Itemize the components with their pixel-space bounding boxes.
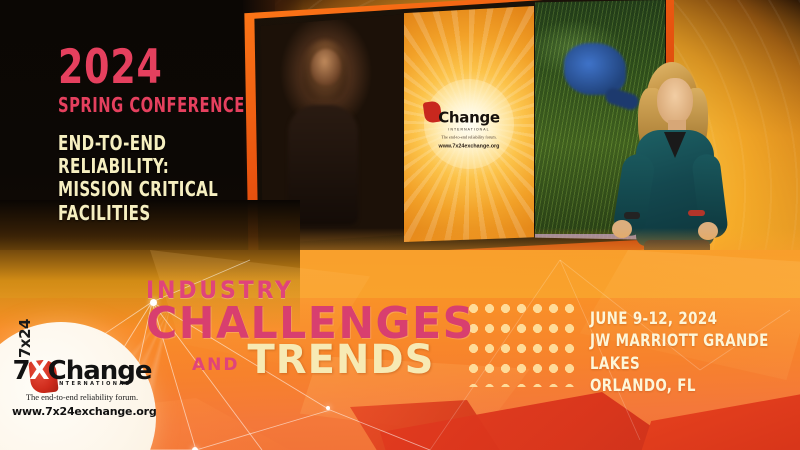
event-details-block: JUNE 9-12, 2024 JW MARRIOTT GRANDE LAKES…: [590, 308, 800, 398]
speaker-watch: [624, 212, 640, 219]
brand-logo-url: www.7x24exchange.org: [12, 405, 152, 418]
brand-logo-x: X: [30, 356, 48, 386]
conference-promo-graphic: Change INTERNATIONAL The end-to-end reli…: [0, 0, 800, 450]
slide-logo: Change INTERNATIONAL The end-to-end reli…: [410, 108, 528, 149]
event-theme-line-1: END-TO-END RELIABILITY:: [58, 132, 268, 178]
event-theme: END-TO-END RELIABILITY: MISSION CRITICAL…: [58, 132, 268, 225]
brand-logo-tagline: The end-to-end reliability forum.: [12, 392, 152, 402]
network-node: [326, 406, 330, 410]
brand-logo-change: Change: [48, 356, 152, 386]
brand-logo-seven: 7: [12, 356, 29, 386]
slide-logo-url: www.7x24exchange.org: [410, 143, 528, 149]
event-type: SPRING CONFERENCE: [58, 94, 263, 116]
headline-challenges: CHALLENGES: [146, 304, 553, 344]
headline-and: AND: [192, 355, 240, 375]
event-dates: JUNE 9-12, 2024: [590, 308, 775, 330]
led-panel-logo-slide: Change INTERNATIONAL The end-to-end reli…: [404, 6, 534, 242]
event-venue: JW MARRIOTT GRANDE LAKES: [590, 330, 775, 375]
speaker-face: [657, 78, 693, 125]
slide-logo-tagline: The end-to-end reliability forum.: [410, 134, 528, 139]
headline-block: INDUSTRY CHALLENGES AND TRENDS: [146, 278, 566, 379]
event-city: ORLANDO, FL: [590, 375, 775, 397]
event-theme-line-2: MISSION CRITICAL FACILITIES: [58, 178, 268, 224]
brand-logo-7x24-superscript: 7x24: [16, 319, 34, 358]
slide-logo-mark: Change: [438, 108, 500, 127]
brand-logo-mark: 7x24 7XChange: [12, 358, 151, 384]
slide-logo-wordmark: Change: [438, 108, 500, 126]
brand-logo: 7x24 7XChange INTERNATIONAL The end-to-e…: [12, 358, 152, 418]
brand-logo-wordmark: 7XChange: [12, 356, 151, 386]
feed-head: [311, 49, 341, 85]
event-title-block: 2024 SPRING CONFERENCE END-TO-END RELIAB…: [58, 45, 308, 225]
event-year: 2024: [58, 45, 273, 90]
speaker-wristband: [688, 210, 705, 216]
slide-logo-international: INTERNATIONAL: [410, 127, 528, 131]
